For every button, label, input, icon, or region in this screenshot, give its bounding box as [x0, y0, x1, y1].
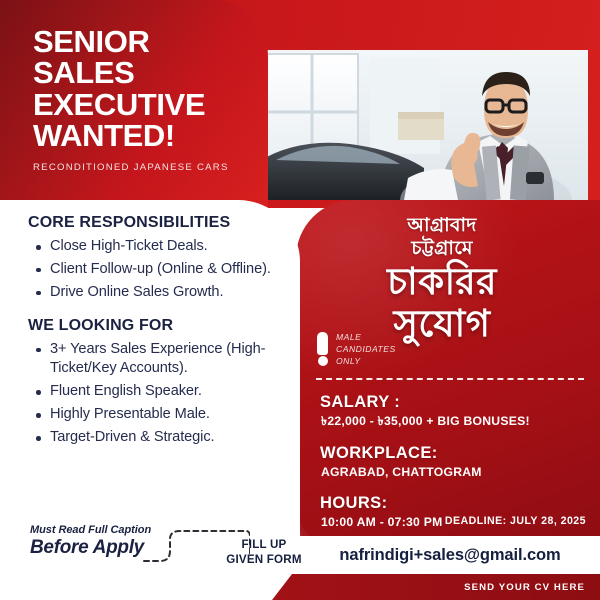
apply-cta: Must Read Full Caption Before Apply FILL…: [30, 524, 295, 580]
male-note-text: MALE CANDIDATES ONLY: [336, 331, 396, 368]
headline-subtitle: RECONDITIONED JAPANESE CARS: [33, 162, 254, 173]
fill-up-line-2: GIVEN FORM: [218, 553, 310, 568]
detail-salary-label: SALARY :: [320, 392, 586, 412]
salesman-photo: [258, 50, 588, 200]
fill-up-form-label: FILL UP GIVEN FORM: [218, 538, 310, 568]
we-looking-for-title: WE LOOKING FOR: [28, 317, 278, 335]
we-looking-for-list: 3+ Years Sales Experience (High-Ticket/K…: [28, 340, 278, 448]
detail-workplace-label: WORKPLACE:: [320, 443, 586, 463]
exclamation-icon: [316, 332, 329, 366]
list-item: Drive Online Sales Growth.: [50, 283, 278, 303]
bengali-heading: আগ্রাবাদ চট্টগ্রামে চাকরির সুযোগ: [296, 214, 588, 344]
headline-line-1: SENIOR: [33, 26, 254, 57]
list-item: Target-Driven & Strategic.: [50, 428, 278, 448]
job-details-panel: আগ্রাবাদ চট্টগ্রামে চাকরির সুযোগ MALE CA…: [296, 200, 600, 536]
requirements-content: CORE RESPONSIBILITIES Close High-Ticket …: [28, 214, 278, 451]
headline: SENIOR SALES EXECUTIVE WANTED!: [33, 26, 254, 151]
bengali-line-2: চট্টগ্রামে: [296, 237, 588, 260]
list-item: Highly Presentable Male.: [50, 405, 278, 425]
fill-up-line-1: FILL UP: [218, 538, 310, 553]
headline-banner: SENIOR SALES EXECUTIVE WANTED! RECONDITI…: [0, 0, 268, 208]
headline-line-2: SALES: [33, 57, 254, 88]
core-responsibilities-list: Close High-Ticket Deals. Client Follow-u…: [28, 237, 278, 303]
core-responsibilities-title: CORE RESPONSIBILITIES: [28, 214, 278, 232]
detail-hours-label: HOURS:: [320, 493, 586, 513]
bengali-line-3: চাকরির: [296, 262, 588, 302]
headline-line-4: WANTED!: [33, 120, 254, 151]
detail-workplace: WORKPLACE: AGRABAD, CHATTOGRAM: [320, 443, 586, 481]
deadline-text: DEADLINE: JULY 28, 2025: [445, 515, 586, 527]
headline-line-3: EXECUTIVE: [33, 89, 254, 120]
male-note-line-2: CANDIDATES: [336, 343, 396, 355]
email-strip[interactable]: nafrindigi+sales@gmail.com: [300, 536, 600, 574]
job-advertisement-poster: SENIOR SALES EXECUTIVE WANTED! RECONDITI…: [0, 0, 600, 600]
list-item: Fluent English Speaker.: [50, 382, 278, 402]
male-candidates-note: MALE CANDIDATES ONLY: [316, 331, 396, 368]
list-item: Client Follow-up (Online & Offline).: [50, 260, 278, 280]
bengali-line-1: আগ্রাবাদ: [296, 214, 588, 237]
email-address[interactable]: nafrindigi+sales@gmail.com: [339, 546, 560, 565]
showroom-illustration: [258, 50, 588, 200]
list-item: 3+ Years Sales Experience (High-Ticket/K…: [50, 340, 278, 380]
male-note-line-1: MALE: [336, 331, 396, 343]
detail-salary-value: ৳22,000 - ৳35,000 + BIG BONUSES!: [320, 413, 586, 429]
dashed-divider: [316, 378, 584, 380]
detail-salary: SALARY : ৳22,000 - ৳35,000 + BIG BONUSES…: [320, 392, 586, 430]
detail-workplace-value: AGRABAD, CHATTOGRAM: [320, 464, 586, 480]
job-details-list: SALARY : ৳22,000 - ৳35,000 + BIG BONUSES…: [320, 392, 586, 531]
male-note-line-3: ONLY: [336, 355, 396, 367]
send-cv-label: SEND YOUR CV HERE: [464, 575, 585, 599]
list-item: Close High-Ticket Deals.: [50, 237, 278, 257]
